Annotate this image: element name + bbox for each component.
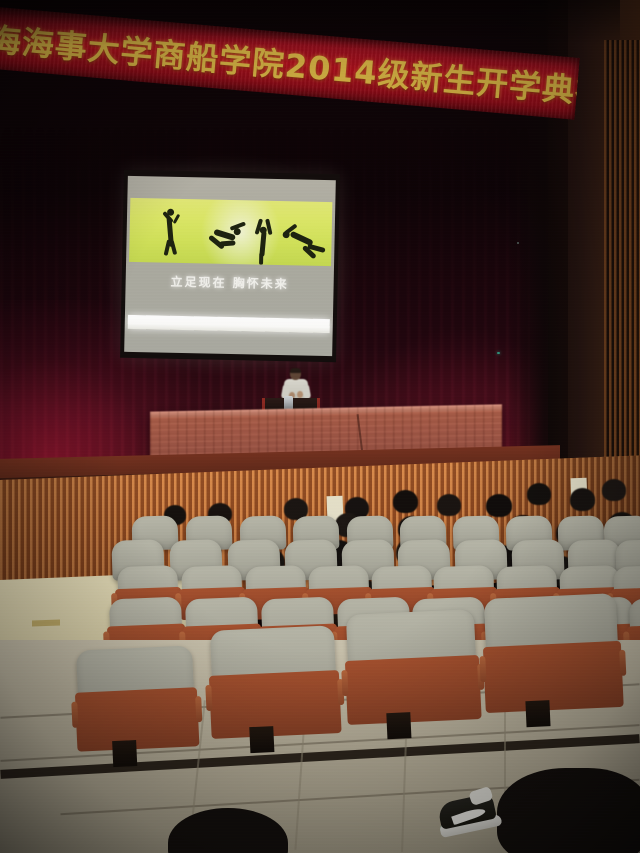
silhouette-1-arm-right	[173, 214, 180, 224]
audience-head	[437, 494, 461, 516]
foreground-head-right	[497, 768, 640, 853]
audience-head	[393, 490, 418, 513]
audience-head	[602, 479, 626, 501]
audience-head	[527, 483, 551, 505]
silhouette-1-leg-right	[170, 240, 178, 256]
seat-armrest-right	[195, 696, 202, 722]
seat-pedestal	[525, 700, 550, 727]
speaker-hand-right	[297, 391, 303, 398]
seat-wood-panel	[75, 688, 200, 752]
audience-head	[486, 494, 512, 517]
slide-footer-bar	[128, 315, 330, 333]
equipment-led-indicator-secondary	[517, 242, 519, 244]
audience-head	[570, 488, 595, 511]
silhouette-2-leg-right	[219, 240, 235, 246]
seat-wood-panel	[483, 641, 624, 714]
seat-armrest-left	[341, 670, 348, 696]
auditorium-seat	[210, 625, 338, 729]
seat-armrest-left	[71, 701, 78, 727]
right-wall-wood-slats	[604, 40, 640, 480]
auditorium-seat	[346, 609, 478, 715]
auditorium-seat	[484, 593, 621, 703]
auditorium-seat	[76, 645, 196, 742]
speaker-hair	[290, 368, 301, 373]
projection-screen: 立足现在 胸怀未来	[120, 170, 340, 362]
seat-wood-panel	[345, 655, 482, 725]
seat-pedestal	[386, 712, 411, 739]
seat-pedestal	[249, 726, 274, 753]
seat-armrest-left	[205, 685, 212, 711]
equipment-led-indicator	[497, 352, 500, 354]
projection-screen-surface: 立足现在 胸怀未来	[124, 176, 336, 356]
silhouette-3-leg	[259, 253, 263, 265]
seat-pedestal	[113, 740, 138, 767]
seat-wood-panel	[209, 670, 342, 739]
slide-silhouette-banner	[129, 198, 332, 266]
seat-armrest-left	[479, 656, 486, 682]
slide-title-text: 立足现在 胸怀未来	[125, 272, 333, 293]
wall-plaque	[32, 620, 60, 627]
auditorium-photo: 海海事大学商船学院2014级新生开学典礼	[0, 0, 640, 853]
seat-armrest-right	[619, 650, 626, 676]
